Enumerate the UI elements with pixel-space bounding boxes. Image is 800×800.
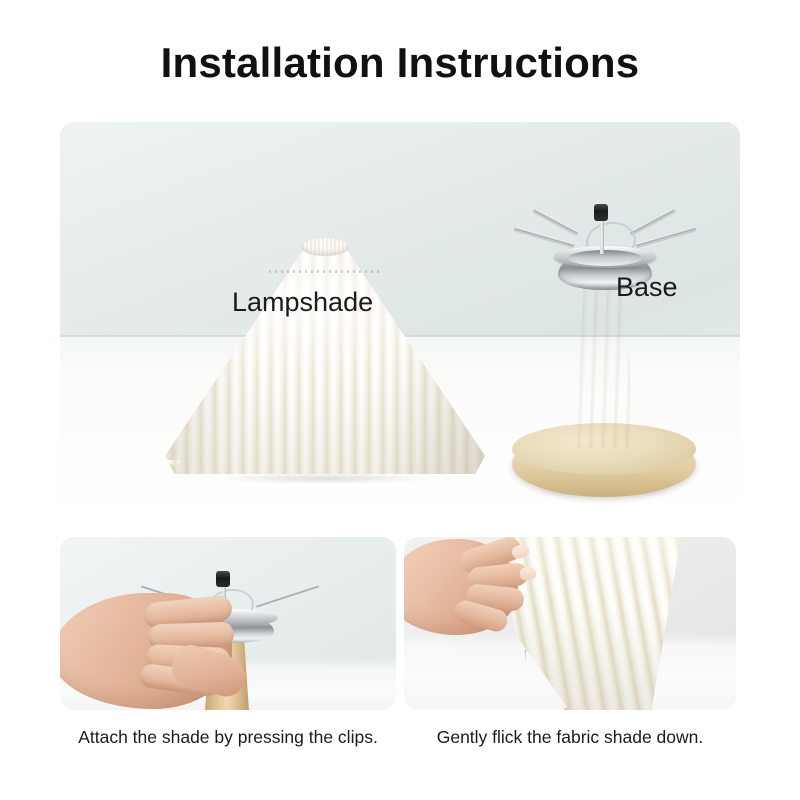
clip-chrome-inner [568, 250, 642, 266]
page-title: Installation Instructions [0, 42, 800, 84]
lampshade-image [165, 232, 485, 484]
step-left-hand [60, 577, 282, 710]
product-parts-overview-panel: Lampshade Base [60, 122, 740, 515]
lamp-base-image [490, 192, 720, 515]
lampshade-drop-shadow [171, 472, 479, 488]
caption-step-attach-shade: Attach the shade by pressing the clips. [60, 727, 396, 748]
step-attach-shade-panel [60, 537, 396, 710]
clip-arm-left-inner [533, 209, 579, 235]
clip-arm-right-inner [629, 209, 675, 235]
step-flick-shade-panel [404, 537, 736, 710]
hand-fingernail-middle [519, 566, 536, 581]
step-right-hand [404, 537, 578, 659]
clip-black-knob [594, 204, 608, 221]
lampshade-cone [165, 246, 485, 474]
caption-step-flick-shade: Gently flick the fabric shade down. [404, 727, 736, 748]
clip-arm-right-outer [636, 227, 696, 247]
clip-arm-left-outer [514, 227, 574, 247]
label-lampshade: Lampshade [232, 289, 373, 316]
lampshade-top-collar [301, 238, 349, 256]
clip-stem [600, 216, 604, 254]
label-base: Base [616, 274, 678, 301]
lampshade-seam [269, 270, 381, 273]
